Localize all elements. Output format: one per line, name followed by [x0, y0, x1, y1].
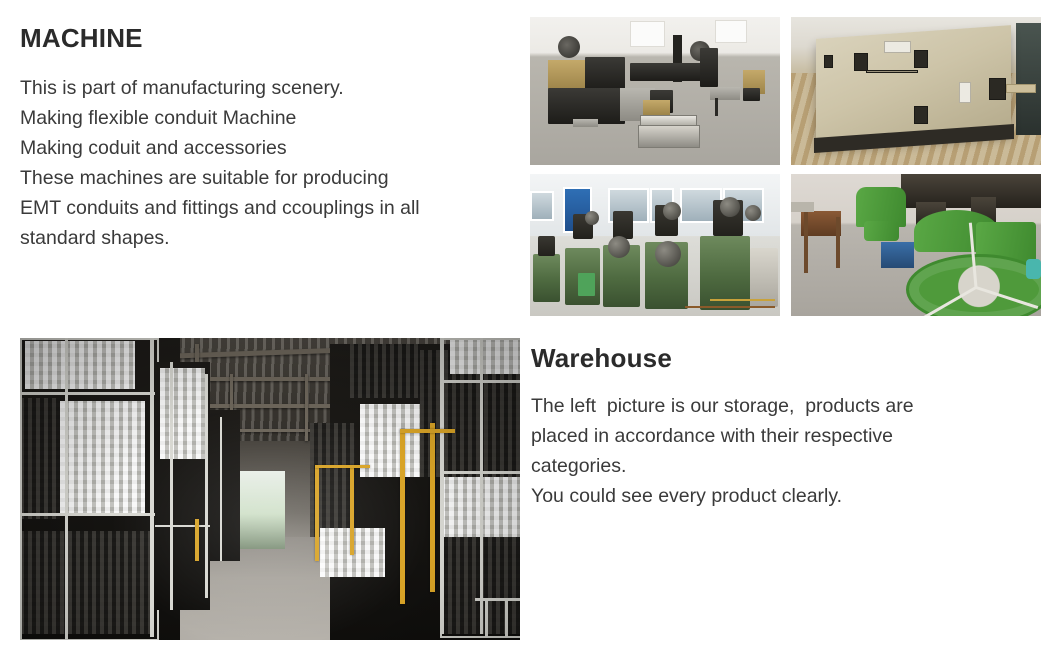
machine-description-line: standard shapes. — [20, 223, 520, 253]
warehouse-section: Warehouse The left picture is our storag… — [531, 345, 1031, 511]
machine-description-line: Making coduit and accessories — [20, 133, 520, 163]
machine-photo-grid — [530, 17, 1041, 316]
machine-heading: MACHINE — [20, 25, 520, 51]
machine-section: MACHINE This is part of manufacturing sc… — [20, 25, 520, 253]
machine-photo-green-tanks — [791, 174, 1041, 316]
machine-description-line: EMT conduits and fittings and ccouplings… — [20, 193, 520, 223]
warehouse-description-line: You could see every product clearly. — [531, 481, 1031, 511]
machine-photo-green-presses — [530, 174, 780, 316]
machine-photo-shop-floor — [530, 17, 780, 165]
warehouse-description: The left picture is our storage, product… — [531, 391, 1031, 511]
machine-description-line: This is part of manufacturing scenery. — [20, 73, 520, 103]
machine-photo-beige-enclosure — [791, 17, 1041, 165]
warehouse-description-line: placed in accordance with their respecti… — [531, 421, 1031, 451]
warehouse-photo-aisle — [20, 338, 520, 640]
machine-description-line: These machines are suitable for producin… — [20, 163, 520, 193]
machine-description: This is part of manufacturing scenery. M… — [20, 73, 520, 253]
warehouse-description-line: categories. — [531, 451, 1031, 481]
machine-description-line: Making flexible conduit Machine — [20, 103, 520, 133]
warehouse-heading: Warehouse — [531, 345, 1031, 371]
warehouse-description-line: The left picture is our storage, product… — [531, 391, 1031, 421]
